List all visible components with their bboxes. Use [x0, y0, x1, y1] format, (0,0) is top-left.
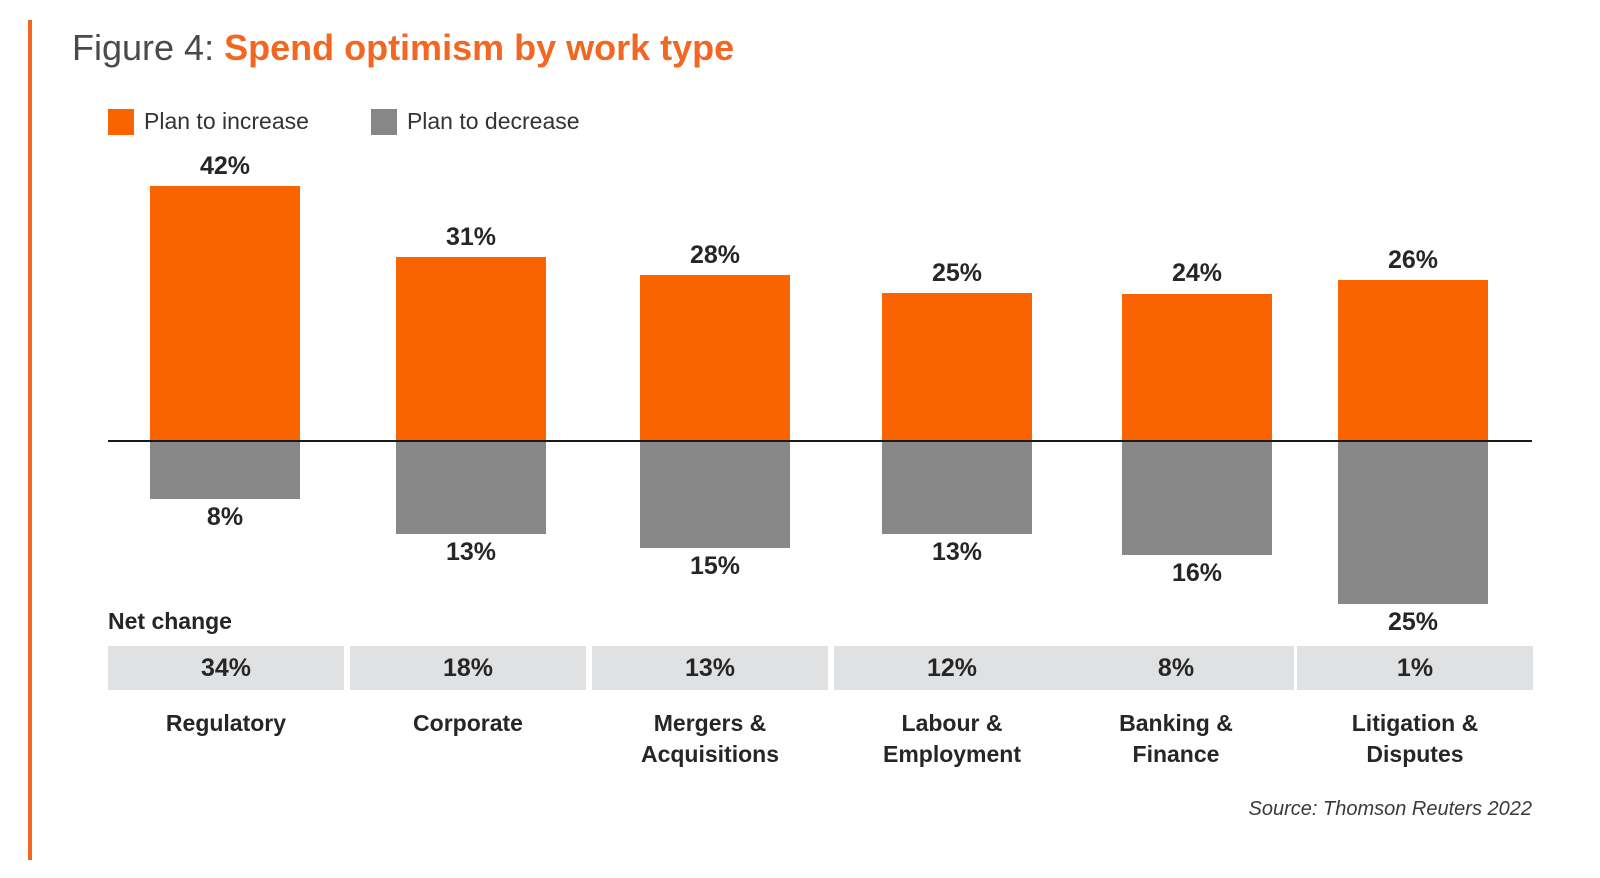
- net-change-row-label: Net change: [108, 608, 232, 635]
- net-change-cell-corporate: 18%: [350, 646, 586, 690]
- category-label-line2: Acquisitions: [592, 739, 828, 770]
- net-change-value: 1%: [1397, 654, 1433, 683]
- zero-baseline: [108, 440, 1532, 442]
- bar-value-decrease-label: 25%: [1338, 608, 1488, 637]
- category-label-mergers-acquisitions: Mergers & Acquisitions: [592, 708, 828, 770]
- net-change-value: 34%: [201, 654, 251, 683]
- net-change-value: 12%: [927, 654, 977, 683]
- category-label-regulatory: Regulatory: [108, 708, 344, 739]
- bar-increase[interactable]: [882, 293, 1032, 440]
- category-label-line1: Mergers &: [592, 708, 828, 739]
- bar-increase[interactable]: [1122, 294, 1272, 440]
- category-label-line2: Employment: [834, 739, 1070, 770]
- bar-increase[interactable]: [150, 186, 300, 440]
- category-label-banking-finance: Banking & Finance: [1058, 708, 1294, 770]
- bar-decrease[interactable]: [1338, 442, 1488, 604]
- category-label-line1: Labour &: [834, 708, 1070, 739]
- bar-value-decrease-label: 16%: [1122, 559, 1272, 588]
- bar-value-increase-label: 42%: [150, 152, 300, 181]
- category-label-litigation-disputes: Litigation & Disputes: [1297, 708, 1533, 770]
- bar-increase[interactable]: [640, 275, 790, 440]
- category-label-line1: Litigation &: [1297, 708, 1533, 739]
- bar-value-increase-label: 26%: [1338, 246, 1488, 275]
- bar-value-decrease-label: 13%: [882, 538, 1032, 567]
- category-label-line2: Finance: [1058, 739, 1294, 770]
- bar-value-decrease-label: 8%: [150, 503, 300, 532]
- net-change-value: 13%: [685, 654, 735, 683]
- net-change-value: 8%: [1158, 654, 1194, 683]
- net-change-cell-mergers-acquisitions: 13%: [592, 646, 828, 690]
- bar-decrease[interactable]: [396, 442, 546, 534]
- bar-value-increase-label: 28%: [640, 241, 790, 270]
- bar-value-increase-label: 25%: [882, 259, 1032, 288]
- category-label-labour-employment: Labour & Employment: [834, 708, 1070, 770]
- net-change-cell-regulatory: 34%: [108, 646, 344, 690]
- bar-decrease[interactable]: [150, 442, 300, 499]
- category-label-line1: Regulatory: [108, 708, 344, 739]
- bar-decrease[interactable]: [640, 442, 790, 548]
- net-change-cell-banking-finance: 8%: [1058, 646, 1294, 690]
- bar-value-increase-label: 24%: [1122, 259, 1272, 288]
- net-change-cell-litigation-disputes: 1%: [1297, 646, 1533, 690]
- bar-increase[interactable]: [396, 257, 546, 440]
- category-label-line2: Disputes: [1297, 739, 1533, 770]
- source-note: Source: Thomson Reuters 2022: [1249, 798, 1533, 821]
- bar-value-decrease-label: 15%: [640, 552, 790, 581]
- bar-decrease[interactable]: [1122, 442, 1272, 555]
- bar-value-increase-label: 31%: [396, 223, 546, 252]
- net-change-cell-labour-employment: 12%: [834, 646, 1070, 690]
- category-label-corporate: Corporate: [350, 708, 586, 739]
- bar-value-decrease-label: 13%: [396, 538, 546, 567]
- net-change-value: 18%: [443, 654, 493, 683]
- bar-decrease[interactable]: [882, 442, 1032, 534]
- category-label-line1: Corporate: [350, 708, 586, 739]
- category-label-line1: Banking &: [1058, 708, 1294, 739]
- bar-increase[interactable]: [1338, 280, 1488, 440]
